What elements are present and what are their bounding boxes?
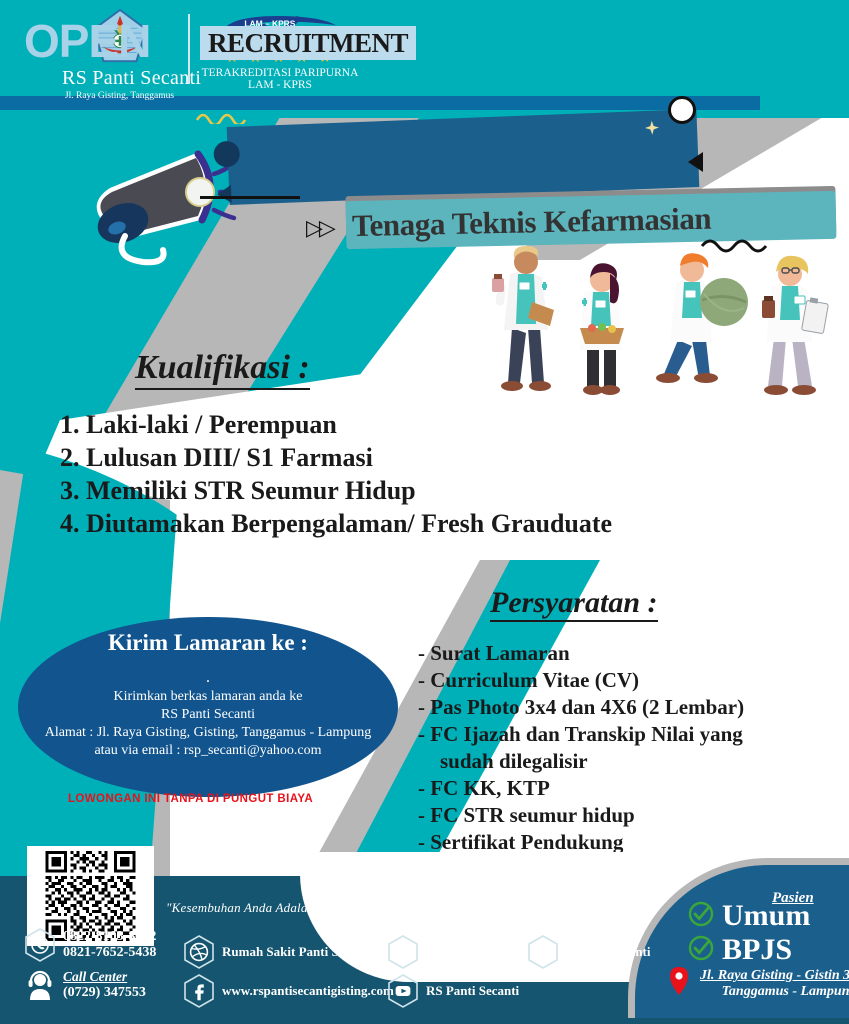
facebook-icon[interactable] — [184, 974, 214, 1008]
call-center-icon — [25, 968, 55, 1002]
footer-address-line1: Jl. Raya Gisting - Gistin 35378 — [700, 968, 849, 984]
footer-bottom-line — [0, 1018, 849, 1024]
word-open: OPEN — [24, 18, 150, 64]
instagram-icon[interactable] — [388, 935, 418, 969]
social-facebook[interactable]: www.rspantisecantigisting.com — [184, 974, 394, 1008]
accreditation-line1: TERAKREDITASI PARIPURNA — [200, 67, 360, 79]
star-decoration — [645, 120, 660, 135]
social-dribbble[interactable]: Rumah Sakit Panti Secanti — [184, 935, 372, 969]
requirements-title: Persyaratan : — [490, 587, 658, 622]
whatsapp-number-1: 0822-8103-8832 — [63, 929, 156, 945]
circle-outline-decoration — [668, 96, 696, 124]
qualifications-list: 1. Laki-laki / Perempuan 2. Lulusan DIII… — [60, 408, 800, 540]
facebook-label: www.rspantisecantigisting.com — [222, 983, 394, 999]
pharmacist-with-large-pill — [656, 253, 748, 383]
banner-left-triangle-decoration — [217, 185, 232, 204]
list-item: - Surat Lamaran — [418, 640, 848, 667]
whatsapp-number-2: 0821-7652-5438 — [63, 945, 156, 961]
youtube-label: RS Panti Secanti — [426, 983, 519, 999]
instagram-label: rspanti_secanti — [426, 944, 511, 960]
check-circle-icon — [688, 935, 714, 966]
hospital-name: RS Panti Secanti — [62, 67, 177, 90]
banner-left-dot-decoration — [213, 141, 240, 168]
pharmacists-illustration — [452, 244, 842, 399]
send-application-panel: Kirim Lamaran ke : . Kirimkan berkas lam… — [18, 617, 398, 797]
check-circle-icon — [688, 901, 714, 932]
contact-whatsapp[interactable]: 0822-8103-8832 0821-7652-5438 — [25, 928, 156, 962]
call-center-label: Call Center — [63, 969, 146, 985]
send-application-line1: Kirimkan berkas lamaran anda ke — [114, 688, 303, 706]
pharmacist-with-medicine-basket — [580, 263, 624, 395]
triangle-left-decoration — [688, 152, 703, 172]
social-tiktok[interactable]: rs_pantisecanti — [528, 935, 651, 969]
arrows-decoration: ▷▷ — [306, 216, 332, 241]
footer-address-line2: Tanggamus - Lampung — [700, 984, 849, 1000]
pharmacist-with-clipboard — [762, 256, 828, 395]
call-center-number: (0729) 347553 — [63, 985, 146, 1001]
tiktok-label: rs_pantisecanti — [566, 944, 651, 960]
tiktok-icon[interactable] — [528, 935, 558, 969]
send-application-title: Kirim Lamaran ke : — [108, 630, 308, 656]
dribbble-icon[interactable] — [184, 935, 214, 969]
patient-option-umum: Umum — [688, 900, 810, 932]
send-application-line2: RS Panti Secanti — [161, 706, 255, 724]
footer-address: Jl. Raya Gisting - Gistin 35378 Tanggamu… — [700, 968, 849, 1000]
pharmacist-with-pill-bottle — [492, 246, 554, 391]
list-item: - FC KK, KTP — [418, 775, 848, 802]
list-item: 2. Lulusan DIII/ S1 Farmasi — [60, 441, 800, 474]
whatsapp-icon[interactable] — [25, 928, 55, 962]
squiggle-decoration-left — [195, 110, 255, 124]
underline-decoration — [200, 196, 300, 199]
map-pin-icon — [668, 966, 690, 996]
patient-option-label: BPJS — [722, 934, 792, 966]
list-item: - FC STR seumur hidup — [418, 802, 848, 829]
send-application-bullet: . — [206, 668, 210, 688]
send-application-line4: atau via email : rsp_secanti@yahoo.com — [94, 742, 321, 760]
patient-option-bpjs: BPJS — [688, 934, 792, 966]
dribbble-label: Rumah Sakit Panti Secanti — [222, 944, 372, 960]
word-recruitment: RECRUITMENT — [200, 26, 416, 60]
requirements-list: - Surat Lamaran - Curriculum Vitae (CV) … — [418, 640, 848, 856]
accreditation-line2: LAM - KPRS — [200, 79, 360, 91]
list-item: 4. Diutamakan Berpengalaman/ Fresh Graud… — [60, 507, 800, 540]
list-item: - Curriculum Vitae (CV) — [418, 667, 848, 694]
hospital-tagline: "Kesembuhan Anda Adalah Sukacita Kami" — [166, 900, 402, 916]
youtube-icon[interactable] — [388, 974, 418, 1008]
no-fee-notice: LOWONGAN INI TANPA DI PUNGUT BIAYA — [68, 793, 313, 805]
header-divider — [188, 14, 190, 84]
hospital-address: Jl. Raya Gisting, Tanggamus — [62, 91, 177, 101]
qualifications-title: Kualifikasi : — [135, 350, 310, 390]
list-item: 1. Laki-laki / Perempuan — [60, 408, 800, 441]
list-item: sudah dilegalisir — [418, 748, 848, 775]
social-instagram[interactable]: rspanti_secanti — [388, 935, 511, 969]
patient-option-label: Umum — [722, 900, 810, 932]
recruitment-poster: RS Panti Secanti Jl. Raya Gisting, Tangg… — [0, 0, 849, 1024]
contact-call-center[interactable]: Call Center (0729) 347553 — [25, 968, 146, 1002]
send-application-line3: Alamat : Jl. Raya Gisting, Gisting, Tang… — [45, 724, 372, 742]
list-item: - FC Ijazah dan Transkip Nilai yang — [418, 721, 848, 748]
list-item: - Pas Photo 3x4 dan 4X6 (2 Lembar) — [418, 694, 848, 721]
social-youtube[interactable]: RS Panti Secanti — [388, 974, 519, 1008]
list-item: 3. Memiliki STR Seumur Hidup — [60, 474, 800, 507]
